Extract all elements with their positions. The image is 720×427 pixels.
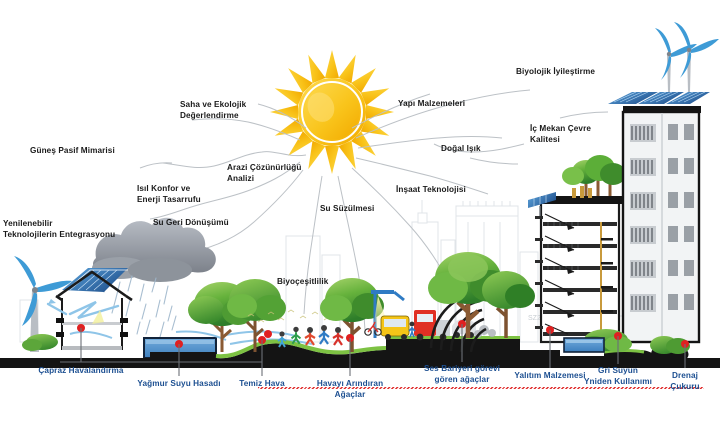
grey-water-tank-icon (564, 338, 604, 352)
drainage-pit-icon (650, 336, 690, 360)
apartment-building-icon (608, 22, 719, 342)
label-insaat-teknolojisi: İnşaat Teknolojisi (396, 185, 466, 196)
label-capraz-havalandirma: Çapraz Havalandırma (38, 366, 123, 377)
label-biyocesitlilik: Biyoçeşitlilik (277, 277, 328, 288)
label-su-geri-donusumu: Su Geri Dönüşümü (153, 218, 229, 229)
label-yapi-malzemeleri: Yapı Malzemeleri (398, 99, 465, 110)
bus-icon (381, 316, 409, 340)
label-saha-ve-ekolojik: Saha ve Ekolojik Değerlendirme (180, 100, 246, 122)
label-drenaj-cukuru: Drenaj Çukuru (668, 371, 703, 393)
label-su-suzulmesi: Su Süzülmesi (320, 204, 374, 215)
building-section-icon (528, 155, 626, 344)
label-yagmur-suyu-hasadi: Yağmur Suyu Hasadı (137, 379, 220, 390)
label-gunes-pasif-mimarisi: Güneş Pasif Mimarisi (30, 146, 115, 157)
label-arazi-cozunurlugu: Arazi Çözünürlüğü Analizi (227, 163, 301, 185)
wind-turbine-icon (674, 22, 719, 92)
label-yenilenebilir-teknolojiler: Yenilenebilir Teknolojilerin Entegrasyon… (3, 219, 115, 241)
label-dogal-isik: Doğal Işık (441, 144, 481, 155)
green-roof-icon (562, 155, 626, 196)
marker-dot (264, 330, 272, 338)
label-biyolojik-iyilestirme: Biyolojik İyileştirme (516, 67, 595, 78)
infographic-canvas: SZ2 (0, 0, 720, 427)
label-ic-mekan-cevre-kalitesi: İç Mekan Çevre Kalitesi (530, 124, 591, 146)
sun-icon (270, 50, 394, 174)
label-gri-suyun-yeniden-kullanimi: Gri Suyun Yniden Kullanımı (258, 366, 720, 388)
label-isil-konfor: Isıl Konfor ve Enerji Tasarrufu (137, 184, 201, 206)
skyline-text: SZ2 (528, 315, 541, 322)
solar-panel-icon (608, 92, 710, 104)
